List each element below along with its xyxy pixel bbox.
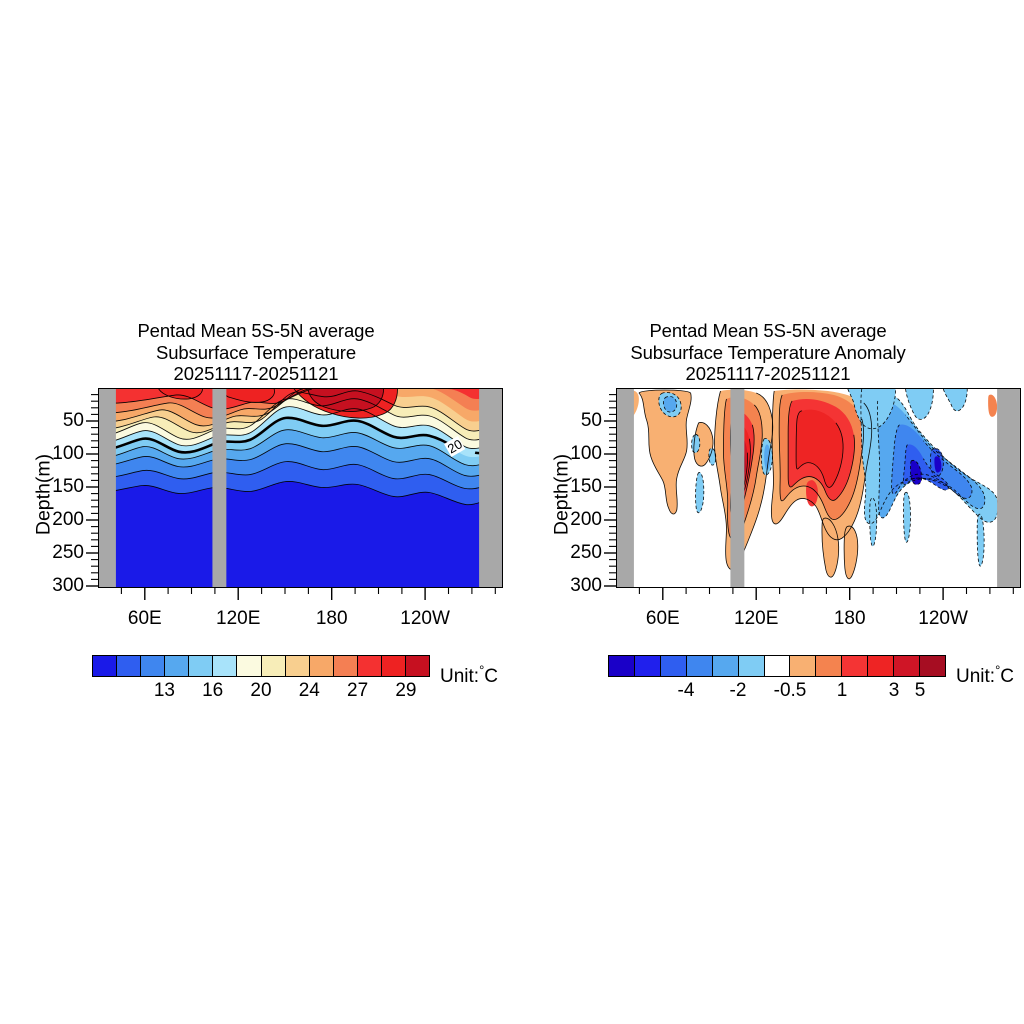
panel-subsurface-temperature-anomaly: Pentad Mean 5S-5N average Subsurface Tem… — [512, 0, 1024, 1024]
y-tick-label: 250 — [52, 542, 84, 564]
colorbar-segment — [165, 656, 189, 676]
y-tick-labels-right: 50 100 150 200 250 300 — [524, 388, 602, 586]
colorbar-segment — [868, 656, 894, 676]
x-tick-label: 120W — [918, 608, 968, 630]
x-tick-label: 180 — [834, 608, 866, 630]
colorbar-segment — [635, 656, 661, 676]
x-tick-labels-left: 60E 120E 180 120W — [98, 608, 504, 634]
colorbar-segment — [213, 656, 237, 676]
colorbar-unit-left: Unit:°C — [440, 666, 498, 688]
x-tick-labels-right: 60E 120E 180 120W — [616, 608, 1022, 634]
plot-area-anomaly — [616, 388, 1021, 588]
colorbar-segment — [141, 656, 165, 676]
colorbar-segment — [117, 656, 141, 676]
y-tick-label: 100 — [52, 443, 84, 465]
colorbar-segment — [920, 656, 945, 676]
x-tick-label: 60E — [128, 608, 162, 630]
colorbar-segment — [310, 656, 334, 676]
celsius-letter: C — [1000, 666, 1014, 687]
colorbar-segment — [406, 656, 429, 676]
y-tick-label: 50 — [63, 410, 84, 432]
panel-subsurface-temperature: Pentad Mean 5S-5N average Subsurface Tem… — [0, 0, 512, 1024]
title-line-1: Pentad Mean 5S-5N average — [0, 320, 512, 342]
unit-text: Unit: — [440, 666, 479, 687]
colorbar-tick-label: 16 — [202, 680, 223, 702]
y-tick-label: 100 — [570, 443, 602, 465]
colorbar-segment — [687, 656, 713, 676]
plot-area-temperature: 20 — [98, 388, 503, 588]
colorbar-tick-label: -4 — [678, 680, 695, 702]
colorbar-tick-label: 27 — [347, 680, 368, 702]
colorbar-segment — [382, 656, 406, 676]
colorbar-segment — [713, 656, 739, 676]
colorbar-tick-label: 1 — [837, 680, 848, 702]
y-tick-labels-left: 50 100 150 200 250 300 — [6, 388, 84, 586]
colorbar-tick-labels-right: -4 -2 -0.5 1 3 5 — [608, 680, 946, 706]
colorbar-tick-label: 29 — [395, 680, 416, 702]
colorbar-tick-label: -2 — [730, 680, 747, 702]
colorbar-segment — [262, 656, 286, 676]
y-axis-ticks-right — [600, 388, 616, 588]
y-tick-label: 200 — [52, 509, 84, 531]
colorbar-segment — [286, 656, 310, 676]
colorbar-segment — [334, 656, 358, 676]
colorbar-tick-label: 5 — [915, 680, 926, 702]
colorbar-segment — [842, 656, 868, 676]
colorbar-unit-right: Unit:°C — [956, 666, 1014, 688]
colorbar-segment — [93, 656, 117, 676]
x-tick-label: 180 — [316, 608, 348, 630]
y-tick-label: 150 — [52, 476, 84, 498]
anomaly-contour-field — [617, 389, 1020, 588]
colorbar-tick-label: 24 — [299, 680, 320, 702]
colorbar-segment — [894, 656, 920, 676]
title-line-3: 20251117-20251121 — [0, 363, 512, 385]
x-axis-ticks-left — [98, 588, 504, 602]
title-line-1: Pentad Mean 5S-5N average — [512, 320, 1024, 342]
colorbar-tick-label: 3 — [889, 680, 900, 702]
panel-title-left: Pentad Mean 5S-5N average Subsurface Tem… — [0, 320, 512, 385]
x-tick-label: 120E — [734, 608, 778, 630]
temperature-contour-field — [99, 389, 502, 588]
panel-title-right: Pentad Mean 5S-5N average Subsurface Tem… — [512, 320, 1024, 385]
x-tick-label: 120E — [216, 608, 260, 630]
title-line-3: 20251117-20251121 — [512, 363, 1024, 385]
y-axis-ticks-left — [82, 388, 98, 588]
colorbar-tick-label: 20 — [250, 680, 271, 702]
colorbar-segment — [189, 656, 213, 676]
colorbar-segment — [609, 656, 635, 676]
unit-text: Unit: — [956, 666, 995, 687]
celsius-letter: C — [484, 666, 498, 687]
colorbar-segment — [237, 656, 261, 676]
colorbar-segment — [765, 656, 791, 676]
colorbar-segment — [739, 656, 765, 676]
colorbar-segment — [661, 656, 687, 676]
colorbar-anomaly — [608, 655, 946, 677]
colorbar-tick-label: -0.5 — [774, 680, 807, 702]
y-tick-label: 50 — [581, 410, 602, 432]
x-axis-ticks-right — [616, 588, 1022, 602]
y-tick-label: 300 — [52, 575, 84, 597]
colorbar-segment — [790, 656, 816, 676]
y-tick-label: 200 — [570, 509, 602, 531]
figure-canvas: Pentad Mean 5S-5N average Subsurface Tem… — [0, 0, 1024, 1024]
y-tick-label: 150 — [570, 476, 602, 498]
title-line-2: Subsurface Temperature — [0, 342, 512, 364]
colorbar-tick-labels-left: 13 16 20 24 27 29 — [92, 680, 430, 706]
y-tick-label: 250 — [570, 542, 602, 564]
x-tick-label: 60E — [646, 608, 680, 630]
colorbar-segment — [358, 656, 382, 676]
colorbar-temperature — [92, 655, 430, 677]
title-line-2: Subsurface Temperature Anomaly — [512, 342, 1024, 364]
colorbar-tick-label: 13 — [154, 680, 175, 702]
colorbar-segment — [816, 656, 842, 676]
y-tick-label: 300 — [570, 575, 602, 597]
x-tick-label: 120W — [400, 608, 450, 630]
